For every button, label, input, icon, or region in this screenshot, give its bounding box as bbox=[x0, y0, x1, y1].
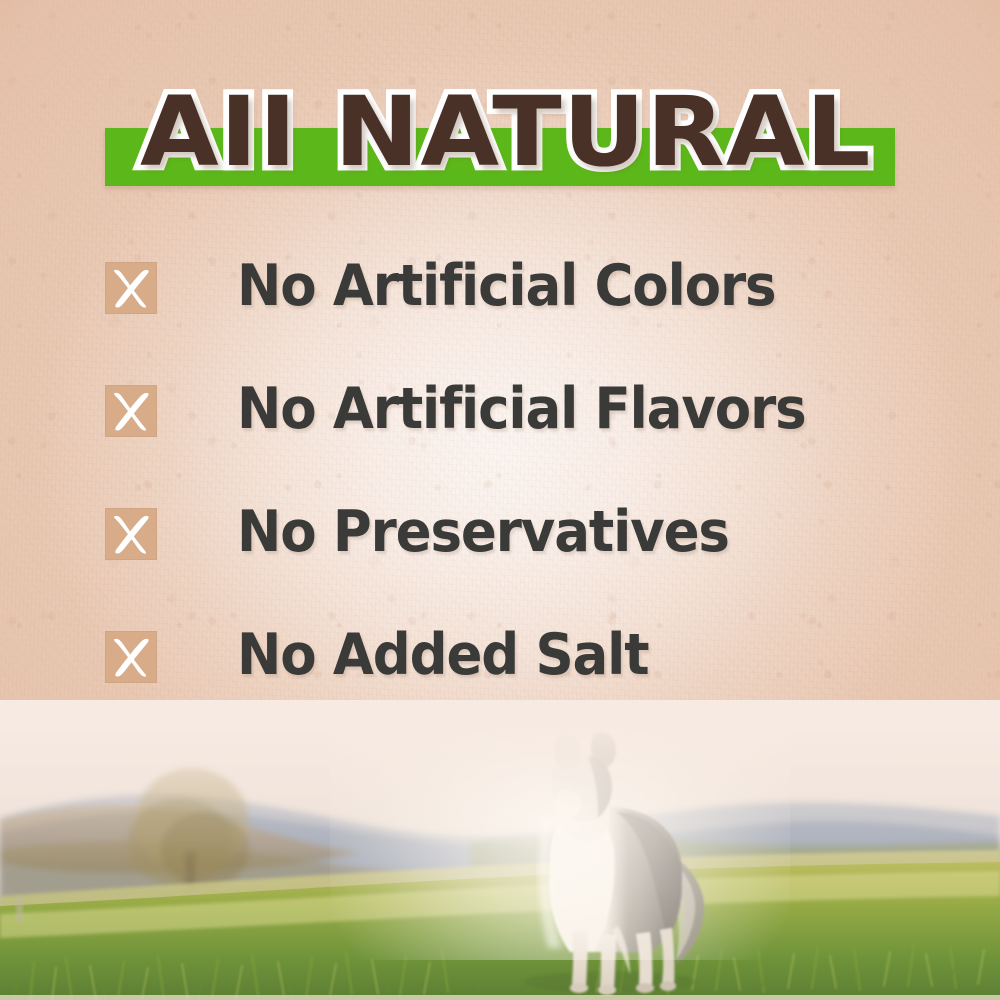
feature-label: No Added Salt bbox=[237, 627, 648, 683]
x-mark-checkbox bbox=[105, 385, 157, 437]
feature-label: No Artificial Colors bbox=[237, 258, 775, 314]
x-mark-icon bbox=[105, 508, 157, 560]
x-mark-icon bbox=[105, 262, 157, 314]
list-item: No Artificial Colors bbox=[105, 258, 935, 381]
photo-illustration bbox=[0, 700, 1000, 1000]
feature-label: No Artificial Flavors bbox=[237, 381, 806, 437]
headline-title: AII NATURAL bbox=[105, 72, 953, 192]
all-natural-feature-panel: AII NATURAL No Artificial Colors No Arti… bbox=[0, 0, 1000, 1000]
x-mark-checkbox bbox=[105, 262, 157, 314]
lifestyle-photo bbox=[0, 700, 1000, 1000]
x-mark-checkbox bbox=[105, 631, 157, 683]
x-mark-icon bbox=[105, 631, 157, 683]
feature-label: No Preservatives bbox=[237, 504, 729, 560]
list-item: No Artificial Flavors bbox=[105, 381, 935, 504]
x-mark-icon bbox=[105, 385, 157, 437]
list-item: No Preservatives bbox=[105, 504, 935, 627]
x-mark-checkbox bbox=[105, 508, 157, 560]
feature-list: No Artificial Colors No Artificial Flavo… bbox=[105, 258, 935, 750]
